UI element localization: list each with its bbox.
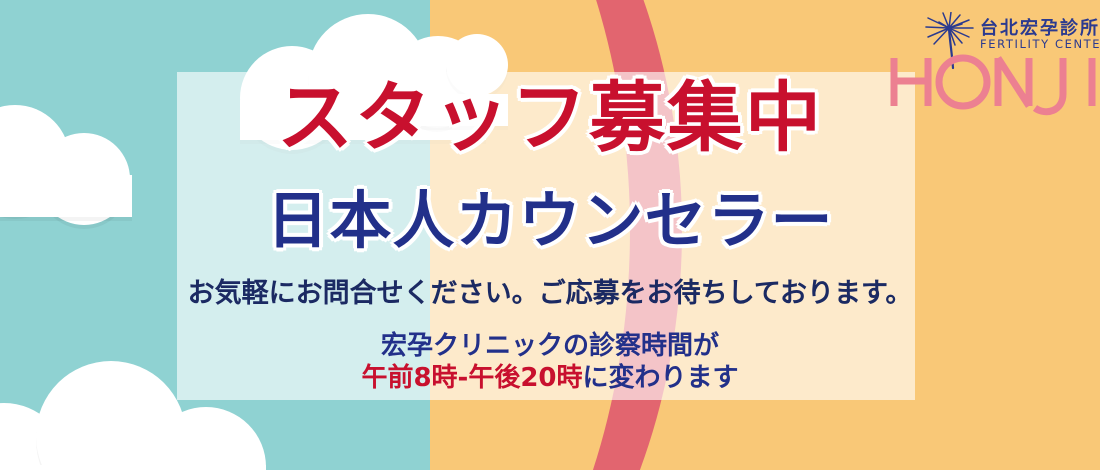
subtitle-text: お気軽にお問合せください。ご応募をお待ちしております。 xyxy=(0,278,1100,310)
schedule-suffix: に変わります xyxy=(583,363,739,393)
headline-secondary: 日本人カウンセラー xyxy=(0,190,1100,252)
logo-clinic-name-en: FERTILITY CENTER xyxy=(980,37,1100,51)
honji-logo[interactable]: 台北宏孕診所 FERTILITY CENTER xyxy=(880,6,1095,126)
schedule-line-1: 宏孕クリニックの診察時間が xyxy=(0,330,1100,363)
logo-wordmark xyxy=(888,54,1098,124)
recruitment-banner: スタッフ募集中 日本人カウンセラー お気軽にお問合せください。ご応募をお待ちして… xyxy=(0,0,1100,470)
schedule-line-2: 午前8時-午後20時に変わります xyxy=(0,362,1100,395)
logo-lockup: 台北宏孕診所 FERTILITY CENTER xyxy=(922,10,1097,58)
schedule-hours: 午前8時-午後20時 xyxy=(361,363,582,393)
